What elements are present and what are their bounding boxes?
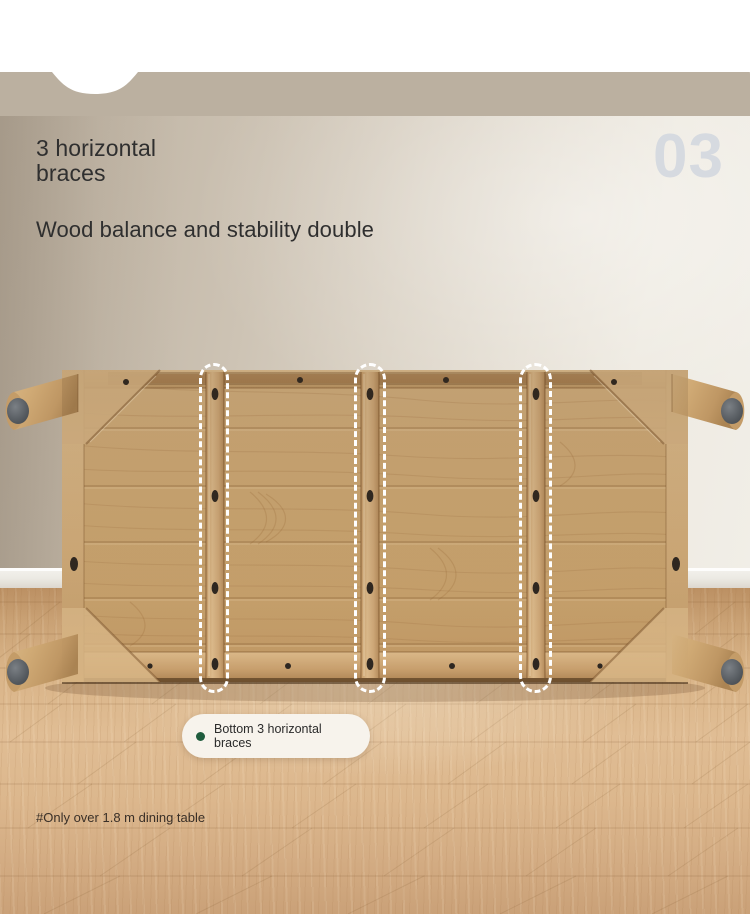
footnote-text: #Only over 1.8 m dining table <box>36 810 205 826</box>
bullet-dot-icon <box>196 732 205 741</box>
section-number-watermark: 03 <box>653 126 724 188</box>
highlight-brace-left <box>199 363 229 693</box>
top-white-band <box>0 0 750 72</box>
product-feature-image: 3 horizontal braces Wood balance and sta… <box>0 0 750 914</box>
page-subtitle: Wood balance and stability double <box>36 216 374 244</box>
callout-label: Bottom 3 horizontal braces <box>214 722 322 750</box>
callout-badge: Bottom 3 horizontal braces <box>182 714 370 758</box>
highlight-brace-right <box>519 363 552 693</box>
page-title: 3 horizontal braces <box>36 136 156 186</box>
highlight-brace-center <box>354 363 386 693</box>
